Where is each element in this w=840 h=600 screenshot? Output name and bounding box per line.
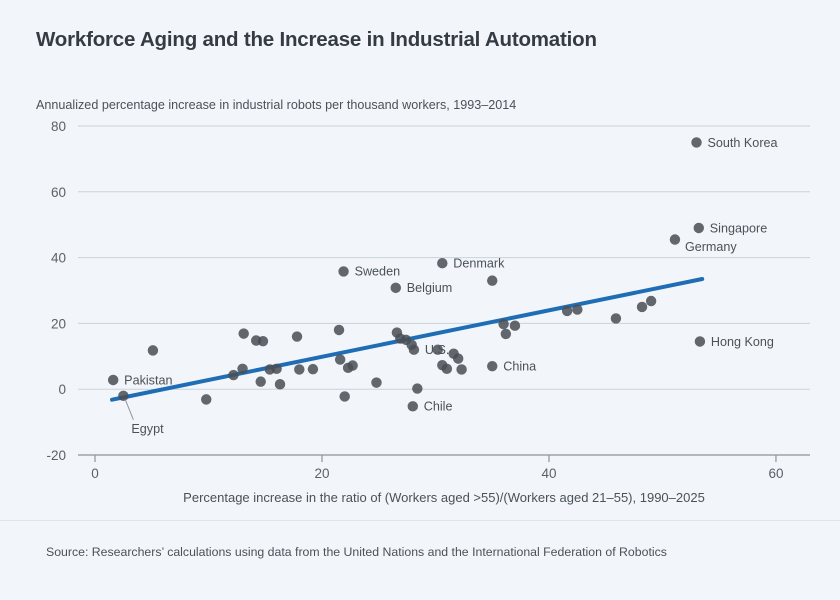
point-label-pakistan: Pakistan xyxy=(124,373,172,387)
data-point-singapore xyxy=(694,223,704,233)
data-point xyxy=(294,364,304,374)
data-point xyxy=(487,275,497,285)
x-tick-label-40: 40 xyxy=(541,466,556,481)
data-point xyxy=(334,325,344,335)
data-point xyxy=(498,319,508,329)
divider xyxy=(0,520,840,521)
point-label-egypt: Egypt xyxy=(131,422,164,436)
y-tick-label-80: 80 xyxy=(51,119,66,134)
data-point xyxy=(510,320,520,330)
data-point xyxy=(255,376,265,386)
data-point xyxy=(347,360,357,370)
point-label-germany: Germany xyxy=(685,240,737,254)
data-point xyxy=(271,364,281,374)
y-tick-label-40: 40 xyxy=(51,251,66,266)
data-point xyxy=(308,364,318,374)
data-point-south-korea xyxy=(691,137,701,147)
data-point xyxy=(611,313,621,323)
data-point xyxy=(456,364,466,374)
x-tick-label-20: 20 xyxy=(314,466,329,481)
source-note: Source: Researchers’ calculations using … xyxy=(46,545,667,559)
x-tick-label-60: 60 xyxy=(768,466,783,481)
axes xyxy=(78,455,810,462)
point-label-chile: Chile xyxy=(424,400,453,414)
data-point xyxy=(412,383,422,393)
data-point-hong-kong xyxy=(695,336,705,346)
point-label-sweden: Sweden xyxy=(355,265,401,279)
data-point-pakistan xyxy=(108,375,118,385)
y-tick-label-20: 20 xyxy=(51,316,66,331)
data-point xyxy=(501,329,511,339)
data-point xyxy=(292,331,302,341)
point-label-singapore: Singapore xyxy=(710,221,767,235)
data-point-germany xyxy=(670,234,680,244)
data-point xyxy=(572,304,582,314)
y-tick-label-60: 60 xyxy=(51,185,66,200)
data-point xyxy=(637,302,647,312)
data-point xyxy=(646,296,656,306)
data-point-denmark xyxy=(437,258,447,268)
data-point xyxy=(148,345,158,355)
x-axis-title: Percentage increase in the ratio of (Wor… xyxy=(183,490,705,505)
leader-line-egypt xyxy=(125,400,133,420)
data-points xyxy=(108,137,705,411)
scatter-plot: -200204060800204060 South KoreaSingapore… xyxy=(0,0,840,520)
data-point xyxy=(237,364,247,374)
y-tick-label--20: -20 xyxy=(46,448,66,463)
data-point xyxy=(406,340,416,350)
data-point-egypt xyxy=(118,391,128,401)
point-label-hong-kong: Hong Kong xyxy=(711,335,774,349)
data-point xyxy=(562,306,572,316)
data-point xyxy=(238,328,248,338)
data-point xyxy=(335,354,345,364)
data-point xyxy=(258,336,268,346)
data-point xyxy=(339,391,349,401)
x-tick-label-0: 0 xyxy=(91,466,99,481)
chart-figure: Workforce Aging and the Increase in Indu… xyxy=(0,0,840,600)
data-point-chile xyxy=(408,401,418,411)
point-labels: South KoreaSingaporeGermanyHong KongDenm… xyxy=(124,136,777,436)
data-point-sweden xyxy=(338,266,348,276)
point-label-china: China xyxy=(503,359,536,373)
point-label-belgium: Belgium xyxy=(407,281,453,295)
data-point xyxy=(442,364,452,374)
point-label-denmark: Denmark xyxy=(453,257,505,271)
data-point xyxy=(453,353,463,363)
data-point xyxy=(228,370,238,380)
data-point xyxy=(201,394,211,404)
data-point-china xyxy=(487,361,497,371)
point-label-south-korea: South Korea xyxy=(708,136,778,150)
data-point xyxy=(275,379,285,389)
y-tick-label-0: 0 xyxy=(58,382,66,397)
point-label-u-s-: U.S. xyxy=(425,343,450,357)
data-point-belgium xyxy=(391,283,401,293)
data-point xyxy=(371,377,381,387)
